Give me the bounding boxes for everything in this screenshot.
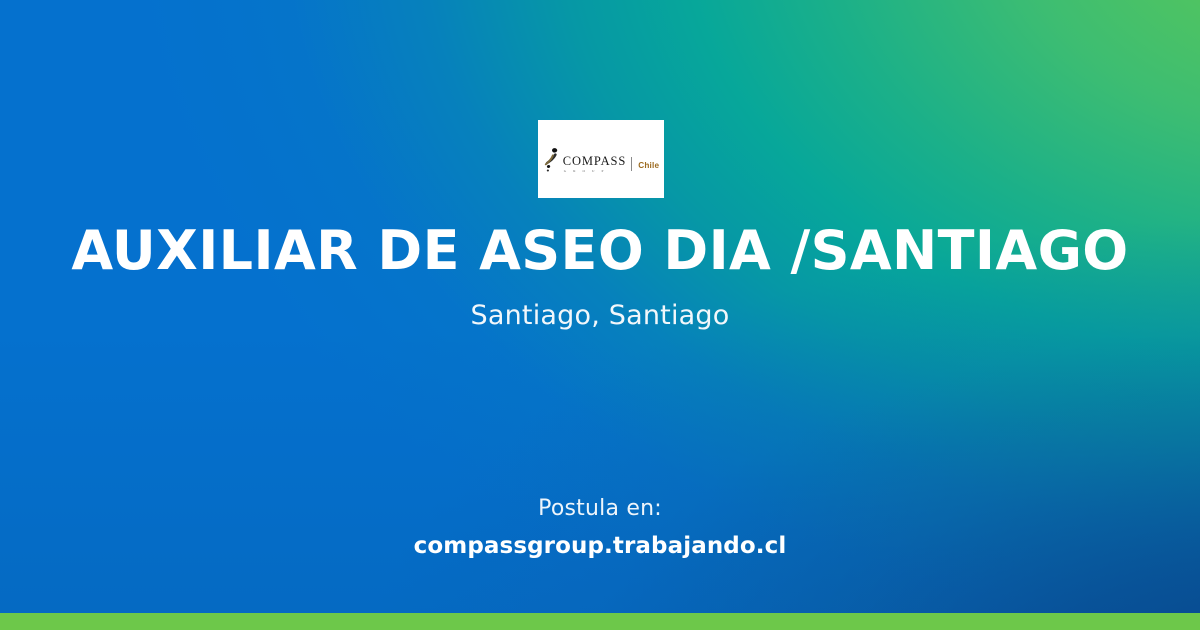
- logo-region-label: Chile: [638, 161, 659, 170]
- job-share-card: COMPASS G R O U P Chile AUXILIAR DE ASEO…: [0, 0, 1200, 630]
- logo-divider: [631, 157, 632, 171]
- job-title: AUXILIAR DE ASEO DIA /SANTIAGO: [0, 222, 1200, 279]
- compass-bird-icon: [543, 147, 560, 173]
- company-logo-card: COMPASS G R O U P Chile: [538, 120, 664, 198]
- bottom-accent-bar: [0, 613, 1200, 630]
- company-logo: COMPASS G R O U P Chile: [543, 147, 660, 173]
- job-location: Santiago, Santiago: [0, 300, 1200, 331]
- compass-wordmark: COMPASS: [563, 155, 627, 168]
- compass-wordmark-block: COMPASS G R O U P: [563, 155, 627, 173]
- card-content: COMPASS G R O U P Chile AUXILIAR DE ASEO…: [0, 0, 1200, 630]
- apply-url[interactable]: compassgroup.trabajando.cl: [0, 533, 1200, 559]
- apply-label: Postula en:: [0, 496, 1200, 521]
- compass-group-subtitle: G R O U P: [564, 170, 607, 173]
